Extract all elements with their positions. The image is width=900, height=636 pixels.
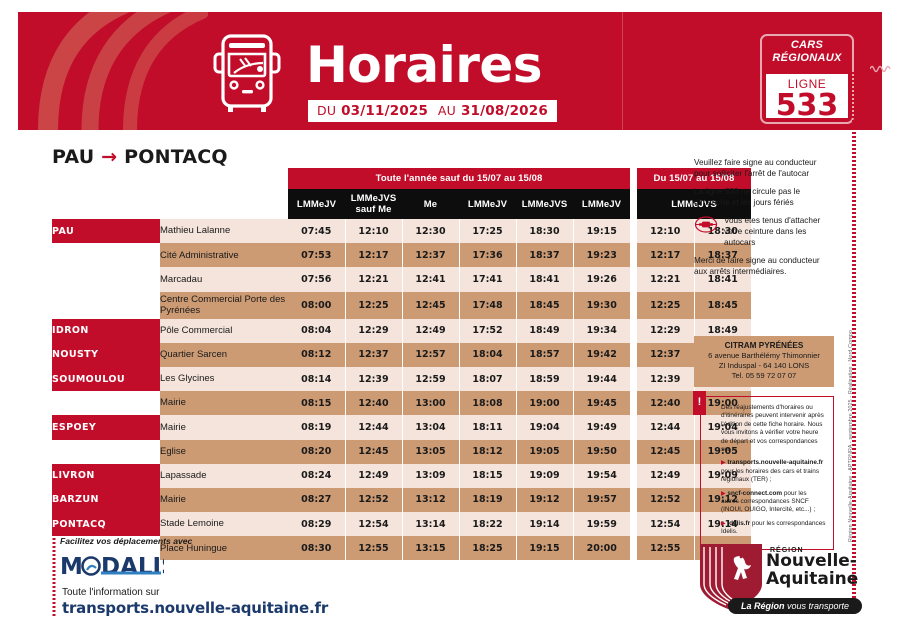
warning-link-1[interactable]: sncf-connect.com xyxy=(727,490,782,497)
departure-time: 17:48 xyxy=(459,292,516,319)
svg-text:M: M xyxy=(60,554,83,580)
departure-time: 19:42 xyxy=(573,343,630,367)
line-number: 533 xyxy=(766,91,848,121)
stop-name: Centre Commercial Porte des Pyrénées xyxy=(160,292,288,319)
table-row: PAUMathieu Lalanne07:4512:1012:3017:2518… xyxy=(52,219,751,243)
departure-time: 19:12 xyxy=(516,488,573,512)
departure-time: 20:00 xyxy=(573,536,630,560)
departure-time: 12:21 xyxy=(345,267,402,291)
column-gap-cell xyxy=(630,512,637,536)
day-header-0: LMMeJV xyxy=(288,189,345,219)
info-note-3: Merci de faire signe au conducteur aux a… xyxy=(694,256,834,277)
departure-time: 12:25 xyxy=(637,292,694,319)
header-banner: Horaires DU 03/11/2025 AU 31/08/2026 CAR… xyxy=(18,12,882,130)
departure-time: 08:30 xyxy=(288,536,345,560)
departure-time: 12:54 xyxy=(637,512,694,536)
bus-icon xyxy=(210,32,288,112)
column-gap-cell xyxy=(630,391,637,415)
departure-time: 12:40 xyxy=(345,391,402,415)
city-label-empty xyxy=(52,440,160,464)
departure-time: 08:19 xyxy=(288,415,345,439)
departure-time: 18:08 xyxy=(459,391,516,415)
departure-time: 12:29 xyxy=(637,319,694,343)
triangle-bullet-icon: ▶ xyxy=(721,460,726,466)
departure-time: 19:49 xyxy=(573,415,630,439)
departure-time: 19:45 xyxy=(573,391,630,415)
table-row: Eglise08:2012:4513:0518:1219:0519:5012:4… xyxy=(52,440,751,464)
departure-time: 18:15 xyxy=(459,464,516,488)
departure-time: 12:52 xyxy=(637,488,694,512)
timetable-body: PAUMathieu Lalanne07:4512:1012:3017:2518… xyxy=(52,219,751,560)
city-label: NOUSTY xyxy=(52,343,160,367)
departure-time: 08:24 xyxy=(288,464,345,488)
table-row: SOUMOULOULes Glycines08:1412:3912:5918:0… xyxy=(52,367,751,391)
departure-time: 18:25 xyxy=(459,536,516,560)
operator-box: CITRAM PYRÉNÉES 6 avenue Barthélémy Thim… xyxy=(694,336,834,387)
departure-time: 18:37 xyxy=(516,243,573,267)
departure-time: 08:29 xyxy=(288,512,345,536)
swoosh-decoration xyxy=(18,12,208,130)
departure-time: 12:57 xyxy=(402,343,459,367)
departure-time: 12:55 xyxy=(345,536,402,560)
stop-name: Mairie xyxy=(160,488,288,512)
footer-info-label: Toute l'information sur xyxy=(62,587,160,598)
column-gap-cell xyxy=(630,536,637,560)
region-slogan-a: La Région xyxy=(741,601,785,611)
departure-time: 12:29 xyxy=(345,319,402,343)
footer-dotted-line xyxy=(52,538,56,616)
departure-time: 19:09 xyxy=(516,464,573,488)
departure-time: 07:56 xyxy=(288,267,345,291)
region-name-line1: Nouvelle- xyxy=(766,552,858,570)
departure-time: 08:15 xyxy=(288,391,345,415)
stop-name: Mairie xyxy=(160,415,288,439)
departure-time: 19:54 xyxy=(573,464,630,488)
departure-time: 18:49 xyxy=(516,319,573,343)
departure-time: 18:45 xyxy=(694,292,751,319)
table-row: Mairie08:1512:4013:0018:0819:0019:4512:4… xyxy=(52,391,751,415)
stop-name: Mathieu Lalanne xyxy=(160,219,288,243)
departure-time: 12:44 xyxy=(345,415,402,439)
seatbelt-icon xyxy=(694,216,718,238)
city-label: PAU xyxy=(52,219,160,243)
table-row: IDRONPôle Commercial08:0412:2912:4917:52… xyxy=(52,319,751,343)
period-header-row: Toute l'année sauf du 15/07 au 15/08 Du … xyxy=(52,168,751,189)
column-gap-cell xyxy=(630,488,637,512)
page-title: Horaires xyxy=(306,36,542,94)
day-header-2: Me xyxy=(402,189,459,219)
departure-time: 13:15 xyxy=(402,536,459,560)
validity-to-label: AU xyxy=(438,103,456,118)
info-panel: Veuillez faire signe au conducteur pour … xyxy=(694,158,834,285)
stop-name: Quartier Sarcen xyxy=(160,343,288,367)
table-row: Marcadau07:5612:2112:4117:4118:4119:2612… xyxy=(52,267,751,291)
departure-time: 08:27 xyxy=(288,488,345,512)
seatbelt-notice: Vous êtes tenus d'attacher votre ceintur… xyxy=(694,216,834,248)
column-gap-cell xyxy=(630,464,637,488)
stop-name: Cité Administrative xyxy=(160,243,288,267)
day-header-row: LMMeJV LMMeJVSsauf Me Me LMMeJV LMMeJVS … xyxy=(52,189,751,219)
departure-time: 08:20 xyxy=(288,440,345,464)
departure-time: 18:57 xyxy=(516,343,573,367)
banner-divider xyxy=(622,12,623,130)
departure-time: 12:44 xyxy=(637,415,694,439)
city-label-empty xyxy=(52,292,160,319)
table-row: ESPOEYMairie08:1912:4413:0418:1119:0419:… xyxy=(52,415,751,439)
departure-time: 13:05 xyxy=(402,440,459,464)
seatbelt-text: Vous êtes tenus d'attacher votre ceintur… xyxy=(724,216,834,248)
city-label: PONTACQ xyxy=(52,512,160,536)
city-label-empty xyxy=(52,243,160,267)
departure-time: 19:44 xyxy=(573,367,630,391)
table-row: Centre Commercial Porte des Pyrénées08:0… xyxy=(52,292,751,319)
table-row: PONTACQStade Lemoine08:2912:5413:1418:22… xyxy=(52,512,751,536)
departure-time: 18:04 xyxy=(459,343,516,367)
column-gap-cell xyxy=(630,319,637,343)
departure-time: 19:59 xyxy=(573,512,630,536)
departure-time: 18:59 xyxy=(516,367,573,391)
departure-time: 18:30 xyxy=(516,219,573,243)
line-badge-category-line2: RÉGIONAUX xyxy=(762,52,852,65)
departure-time: 18:41 xyxy=(516,267,573,291)
departure-time: 17:41 xyxy=(459,267,516,291)
departure-time: 19:15 xyxy=(573,219,630,243)
departure-time: 12:39 xyxy=(345,367,402,391)
line-badge-category: CARS RÉGIONAUX xyxy=(762,36,852,70)
departure-time: 12:30 xyxy=(402,219,459,243)
column-gap-cell xyxy=(630,243,637,267)
departure-time: 12:54 xyxy=(345,512,402,536)
departure-time: 12:37 xyxy=(637,343,694,367)
column-gap xyxy=(630,168,637,189)
city-label-empty xyxy=(52,267,160,291)
day-header-5: LMMeJV xyxy=(573,189,630,219)
departure-time: 13:00 xyxy=(402,391,459,415)
departure-time: 18:12 xyxy=(459,440,516,464)
stop-name: Les Glycines xyxy=(160,367,288,391)
column-gap-cell xyxy=(630,343,637,367)
region-slogan-b: vous transporte xyxy=(785,601,850,611)
table-row: NOUSTYQuartier Sarcen08:1212:3712:5718:0… xyxy=(52,343,751,367)
region-slogan: La Région vous transporte xyxy=(728,598,862,614)
departure-time: 19:00 xyxy=(516,391,573,415)
route-destination: PONTACQ xyxy=(124,146,228,168)
header-spacer-city xyxy=(52,168,160,189)
validity-from-date: 03/11/2025 xyxy=(341,103,428,119)
departure-time: 19:14 xyxy=(516,512,573,536)
departure-time: 12:17 xyxy=(637,243,694,267)
day-header-4: LMMeJVS xyxy=(516,189,573,219)
footer-tagline: Facilitez vos déplacements avec xyxy=(60,536,192,546)
warning-bullet-2: ▶ idelis.fr pour les correspondances Ide… xyxy=(721,520,826,537)
departure-time: 17:52 xyxy=(459,319,516,343)
departure-time: 12:25 xyxy=(345,292,402,319)
city-label: IDRON xyxy=(52,319,160,343)
stop-name: Eglise xyxy=(160,440,288,464)
table-row: BARZUNMairie08:2712:5213:1218:1919:1219:… xyxy=(52,488,751,512)
departure-time: 18:22 xyxy=(459,512,516,536)
footer-url[interactable]: transports.nouvelle-aquitaine.fr xyxy=(62,599,328,617)
operator-name: CITRAM PYRÉNÉES xyxy=(698,341,830,351)
stop-name: Marcadau xyxy=(160,267,288,291)
line-badge: CARS RÉGIONAUX LIGNE 533 xyxy=(760,34,854,124)
info-note-1: Veuillez faire signe au conducteur pour … xyxy=(694,158,834,179)
validity-period: DU 03/11/2025 AU 31/08/2026 xyxy=(308,100,557,122)
route-arrow-icon: → xyxy=(101,146,117,168)
header-spacer-stop xyxy=(160,168,288,189)
departure-time: 12:45 xyxy=(637,440,694,464)
departure-time: 12:45 xyxy=(345,440,402,464)
departure-time: 17:25 xyxy=(459,219,516,243)
info-note-2: La ligne 533 ne circule pas le dimanche … xyxy=(694,187,834,208)
departure-time: 19:34 xyxy=(573,319,630,343)
operator-address-1: 6 avenue Barthélémy Thimonnier xyxy=(698,351,830,361)
departure-time: 19:05 xyxy=(516,440,573,464)
departure-time: 12:45 xyxy=(402,292,459,319)
column-gap-cell xyxy=(630,367,637,391)
departure-time: 12:37 xyxy=(345,343,402,367)
departure-time: 12:55 xyxy=(637,536,694,560)
warning-link-2[interactable]: idelis.fr xyxy=(727,520,750,527)
table-row: LIVRONLapassade08:2412:4913:0918:1519:09… xyxy=(52,464,751,488)
warning-text-0: pour les horaires des cars et trains rég… xyxy=(721,468,819,483)
region-name: Nouvelle- Aquitaine xyxy=(766,552,858,588)
city-label: LIVRON xyxy=(52,464,160,488)
validity-to-date: 31/08/2026 xyxy=(461,103,548,119)
triangle-bullet-icon-3: ▶ xyxy=(721,521,726,527)
publication-credit: Région Nouvelle-Aquitaine - APTRNRA - se… xyxy=(848,330,854,542)
warning-bullet-1: ▶ sncf-connect.com pour les autres corre… xyxy=(721,490,826,515)
svg-text:DALIS: DALIS xyxy=(101,554,164,580)
timetable: Toute l'année sauf du 15/07 au 15/08 Du … xyxy=(52,168,751,560)
exclamation-icon: ! xyxy=(693,391,706,415)
region-name-line2: Aquitaine xyxy=(766,570,858,588)
column-gap-2 xyxy=(630,189,637,219)
header-spacer-city-2 xyxy=(52,189,160,219)
table-row: Cité Administrative07:5312:1712:3717:361… xyxy=(52,243,751,267)
stop-name: Mairie xyxy=(160,391,288,415)
warning-box: ! Des réajustements d'horaires ou d'itin… xyxy=(700,396,834,550)
departure-time: 13:04 xyxy=(402,415,459,439)
column-gap-cell xyxy=(630,292,637,319)
departure-time: 13:14 xyxy=(402,512,459,536)
departure-time: 17:36 xyxy=(459,243,516,267)
departure-time: 19:04 xyxy=(516,415,573,439)
column-gap-cell xyxy=(630,440,637,464)
route-heading: PAU → PONTACQ xyxy=(52,146,228,168)
stop-name: Lapassade xyxy=(160,464,288,488)
departure-time: 12:40 xyxy=(637,391,694,415)
warning-link-0[interactable]: transports.nouvelle-aquitaine.fr xyxy=(727,459,823,466)
city-label: SOUMOULOU xyxy=(52,367,160,391)
departure-time: 12:49 xyxy=(637,464,694,488)
departure-time: 12:39 xyxy=(637,367,694,391)
period-header-main: Toute l'année sauf du 15/07 au 15/08 xyxy=(288,168,630,189)
departure-time: 19:30 xyxy=(573,292,630,319)
warning-bullet-0: ▶ transports.nouvelle-aquitaine.fr pour … xyxy=(721,459,826,484)
route-origin: PAU xyxy=(52,146,94,168)
column-gap-cell xyxy=(630,219,637,243)
day-header-1: LMMeJVSsauf Me xyxy=(345,189,402,219)
modalis-logo: M DALIS xyxy=(60,551,164,586)
timetable-page: Horaires DU 03/11/2025 AU 31/08/2026 CAR… xyxy=(0,0,900,636)
column-gap-cell xyxy=(630,415,637,439)
departure-time: 18:07 xyxy=(459,367,516,391)
operator-address-2: ZI Induspal - 64 140 LONS xyxy=(698,361,830,371)
departure-time: 08:04 xyxy=(288,319,345,343)
departure-time: 18:11 xyxy=(459,415,516,439)
city-label-empty xyxy=(52,391,160,415)
departure-time: 13:09 xyxy=(402,464,459,488)
departure-time: 13:12 xyxy=(402,488,459,512)
departure-time: 12:59 xyxy=(402,367,459,391)
departure-time: 07:45 xyxy=(288,219,345,243)
city-label: ESPOEY xyxy=(52,415,160,439)
squiggle-decoration xyxy=(870,62,892,74)
departure-time: 07:53 xyxy=(288,243,345,267)
triangle-bullet-icon-2: ▶ xyxy=(721,491,726,497)
departure-time: 12:49 xyxy=(345,464,402,488)
header-spacer-stop-2 xyxy=(160,189,288,219)
departure-time: 19:57 xyxy=(573,488,630,512)
departure-time: 12:49 xyxy=(402,319,459,343)
departure-time: 08:12 xyxy=(288,343,345,367)
departure-time: 18:19 xyxy=(459,488,516,512)
column-gap-cell xyxy=(630,267,637,291)
departure-time: 12:21 xyxy=(637,267,694,291)
city-label: BARZUN xyxy=(52,488,160,512)
day-header-3: LMMeJV xyxy=(459,189,516,219)
departure-time: 19:15 xyxy=(516,536,573,560)
departure-time: 12:10 xyxy=(345,219,402,243)
timetable-head: Toute l'année sauf du 15/07 au 15/08 Du … xyxy=(52,168,751,219)
departure-time: 19:50 xyxy=(573,440,630,464)
warning-intro: Des réajustements d'horaires ou d'itinér… xyxy=(721,404,826,454)
departure-time: 08:14 xyxy=(288,367,345,391)
validity-from-label: DU xyxy=(317,103,336,118)
departure-time: 12:10 xyxy=(637,219,694,243)
line-badge-body: LIGNE 533 xyxy=(766,74,848,118)
stop-name: Stade Lemoine xyxy=(160,512,288,536)
departure-time: 08:00 xyxy=(288,292,345,319)
departure-time: 19:23 xyxy=(573,243,630,267)
departure-time: 19:26 xyxy=(573,267,630,291)
departure-time: 12:37 xyxy=(402,243,459,267)
departure-time: 12:17 xyxy=(345,243,402,267)
departure-time: 18:45 xyxy=(516,292,573,319)
stop-name: Pôle Commercial xyxy=(160,319,288,343)
line-badge-category-line1: CARS xyxy=(762,39,852,52)
departure-time: 12:52 xyxy=(345,488,402,512)
operator-phone: Tel. 05 59 72 07 07 xyxy=(698,371,830,381)
departure-time: 12:41 xyxy=(402,267,459,291)
